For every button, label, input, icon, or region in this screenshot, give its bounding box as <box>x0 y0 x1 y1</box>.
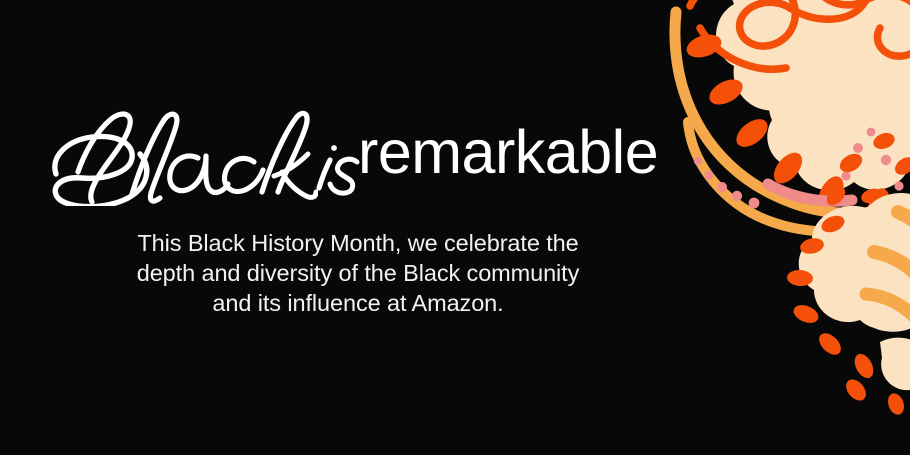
amber-striped-bloom <box>799 193 910 336</box>
cream-bloom-fragment-bottom <box>880 338 910 391</box>
subcopy-line-1: This Black History Month, we celebrate t… <box>0 228 716 258</box>
banner-subcopy: This Black History Month, we celebrate t… <box>0 228 716 318</box>
orange-ellipse-cluster-right <box>823 130 910 209</box>
banner-text-block: Black <box>0 0 716 455</box>
pink-dot-trail <box>694 128 904 209</box>
cream-cloud-petals-top <box>716 0 910 190</box>
orange-ellipse-arc-lower <box>786 213 910 417</box>
subcopy-line-3: and its influence at Amazon. <box>0 288 716 318</box>
looping-orange-squiggle <box>690 0 910 69</box>
pink-arc-stroke <box>768 184 852 201</box>
headline-script-word-black: Black <box>48 110 318 206</box>
banner-headline: Black <box>0 108 716 208</box>
subcopy-line-2: depth and diversity of the Black communi… <box>0 258 716 288</box>
black-history-month-banner: Black <box>0 0 910 455</box>
headline-plain-word-remarkable: remarkable <box>358 122 658 183</box>
headline-italic-word-is: is <box>305 132 363 202</box>
